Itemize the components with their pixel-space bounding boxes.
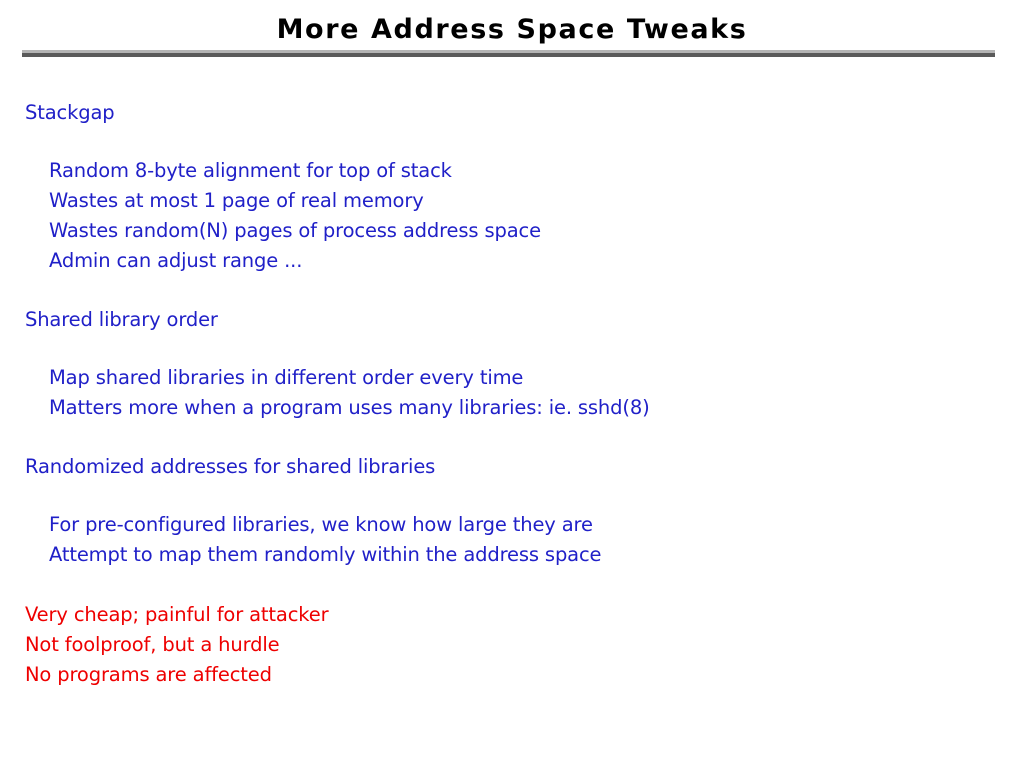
spacer bbox=[0, 570, 1024, 600]
title-divider bbox=[22, 50, 995, 57]
bullet-item: Random 8-byte alignment for top of stack bbox=[49, 156, 1024, 186]
summary-item: Very cheap; painful for attacker bbox=[25, 600, 1024, 630]
section-heading-stackgap: Stackgap bbox=[25, 98, 1024, 128]
bullet-item: Admin can adjust range ... bbox=[49, 246, 1024, 276]
page-title: More Address Space Tweaks bbox=[0, 14, 1024, 45]
spacer bbox=[0, 423, 1024, 452]
bullet-item: Attempt to map them randomly within the … bbox=[49, 540, 1024, 570]
bullet-item: Map shared libraries in different order … bbox=[49, 363, 1024, 393]
bullet-item: For pre-configured libraries, we know ho… bbox=[49, 510, 1024, 540]
bullet-item: Wastes random(N) pages of process addres… bbox=[49, 216, 1024, 246]
bullet-item: Matters more when a program uses many li… bbox=[49, 393, 1024, 423]
section-heading-randomized-addresses: Randomized addresses for shared librarie… bbox=[25, 452, 1024, 482]
divider-shadow bbox=[22, 53, 995, 57]
spacer bbox=[0, 335, 1024, 363]
summary-item: No programs are affected bbox=[25, 660, 1024, 690]
spacer bbox=[0, 128, 1024, 156]
slide: More Address Space Tweaks Stackgap Rando… bbox=[0, 0, 1024, 768]
spacer bbox=[0, 276, 1024, 305]
bullet-item: Wastes at most 1 page of real memory bbox=[49, 186, 1024, 216]
slide-body: Stackgap Random 8-byte alignment for top… bbox=[0, 98, 1024, 690]
spacer bbox=[0, 482, 1024, 510]
summary-item: Not foolproof, but a hurdle bbox=[25, 630, 1024, 660]
section-heading-shared-library-order: Shared library order bbox=[25, 305, 1024, 335]
